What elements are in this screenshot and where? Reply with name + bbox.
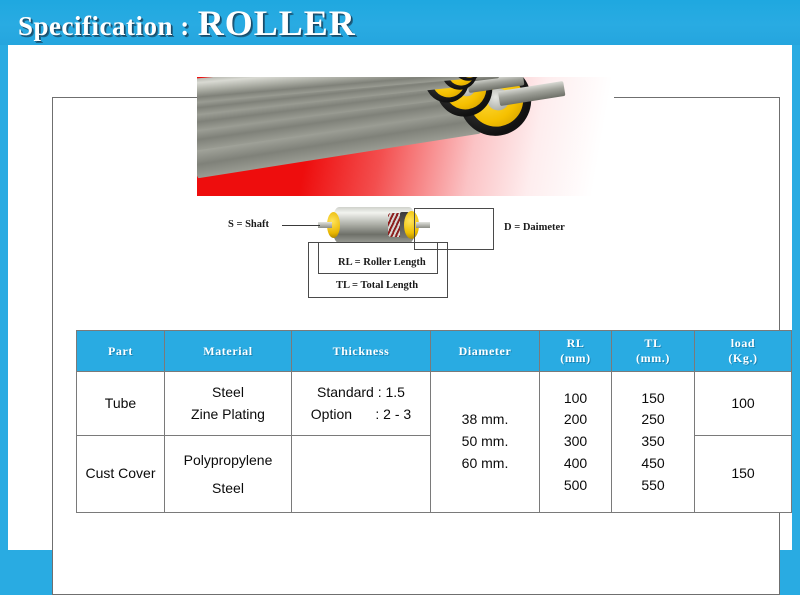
- specification-table: Part Material Thickness Diameter RL (mm)…: [76, 330, 792, 513]
- header-line-1: TL: [644, 336, 661, 350]
- header-line-1: load: [731, 336, 755, 350]
- header-line-1: Diameter: [459, 344, 512, 358]
- column-header-tl: TL (mm.): [612, 331, 695, 372]
- column-header-material: Material: [165, 331, 292, 372]
- column-header-part: Part: [77, 331, 165, 372]
- title-bar: Specification :ROLLER: [0, 0, 800, 45]
- header-line-1: RL: [567, 336, 585, 350]
- cell-part-tube: Tube: [77, 372, 165, 436]
- column-header-rl: RL (mm): [540, 331, 612, 372]
- header-line-1: Material: [203, 344, 252, 358]
- cell-tl-values: 150 250 350 450 550: [612, 372, 695, 513]
- shaft-leader-line: [282, 225, 320, 226]
- column-header-thickness: Thickness: [292, 331, 431, 372]
- diameter-label: D = Daimeter: [504, 222, 565, 233]
- cell-diameter: 38 mm. 50 mm. 60 mm.: [431, 372, 540, 513]
- header-line-2: (mm): [560, 351, 590, 365]
- page-title: Specification :ROLLER: [18, 2, 356, 44]
- specification-sheet: Specification :ROLLER: [0, 0, 800, 566]
- header-line-2: (mm.): [636, 351, 670, 365]
- column-header-load: load (Kg.): [695, 331, 792, 372]
- cell-material-cust-cover: Polypropylene Steel: [165, 436, 292, 513]
- table-row: Tube Steel Zine Plating Standard : 1.5 O…: [77, 372, 792, 436]
- header-line-1: Thickness: [333, 344, 390, 358]
- roller-group: [197, 77, 614, 196]
- cell-thickness-tube: Standard : 1.5 Option : 2 - 3: [292, 372, 431, 436]
- schematic-roller: [322, 207, 426, 243]
- schematic-shaft-left: [318, 222, 332, 228]
- roller-dimension-diagram: S = Shaft D = Daimeter RL = Roller Lengt…: [228, 202, 572, 314]
- header-line-1: Part: [108, 344, 133, 358]
- cell-thickness-cust-cover: [292, 436, 431, 513]
- table-header-row: Part Material Thickness Diameter RL (mm)…: [77, 331, 792, 372]
- cell-load-cust-cover: 150: [695, 436, 792, 513]
- page-title-product: ROLLER: [190, 3, 356, 43]
- cell-part-cust-cover: Cust Cover: [77, 436, 165, 513]
- total-length-label: TL = Total Length: [336, 280, 418, 291]
- column-header-diameter: Diameter: [431, 331, 540, 372]
- cell-load-tube: 100: [695, 372, 792, 436]
- conveyor-roller-photo: [197, 77, 614, 196]
- shaft-label: S = Shaft: [228, 219, 269, 230]
- cell-material-tube: Steel Zine Plating: [165, 372, 292, 436]
- cell-rl-values: 100 200 300 400 500: [540, 372, 612, 513]
- header-line-2: (Kg.): [728, 351, 757, 365]
- page-title-label: Specification :: [18, 11, 190, 41]
